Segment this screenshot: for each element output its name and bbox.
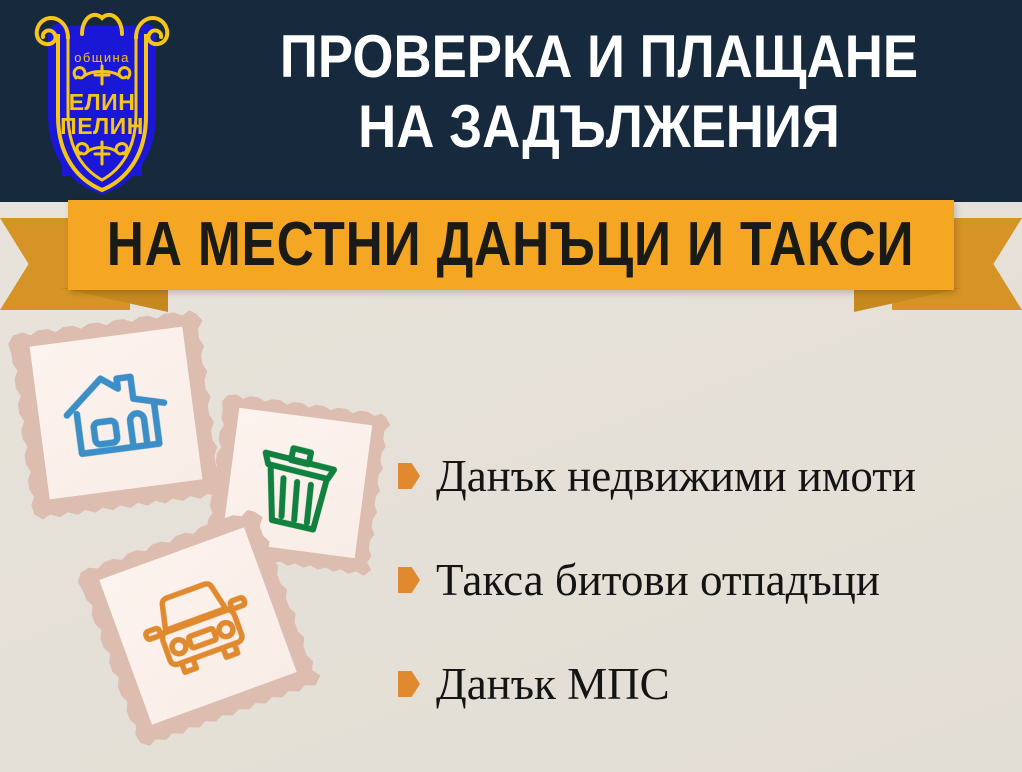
title-line-2: НА ЗАДЪЛЖЕНИЯ — [239, 92, 959, 162]
ribbon-label: НА МЕСТНИ ДАНЪЦИ И ТАКСИ — [107, 214, 915, 276]
logo-text-elin: ЕЛИН — [69, 89, 136, 115]
stamp-card-house — [6, 303, 226, 523]
subtitle-ribbon: НА МЕСТНИ ДАНЪЦИ И ТАКСИ — [0, 200, 1022, 315]
list-item[interactable]: Данък МПС — [398, 632, 1008, 736]
stamp-paper-house — [30, 327, 203, 500]
header-band: община ЕЛИН ПЕЛИН — [0, 0, 1022, 202]
list-item-label: Такса битови отпадъци — [436, 555, 880, 605]
bullet-arrow-icon — [398, 671, 420, 697]
municipality-logo: община ЕЛИН ПЕЛИН — [22, 4, 182, 194]
car-front-icon — [130, 565, 266, 688]
bullet-arrow-icon — [398, 567, 420, 593]
ribbon-banner: НА МЕСТНИ ДАНЪЦИ И ТАКСИ — [68, 200, 954, 290]
stamp-paper-car — [99, 527, 296, 724]
trash-bin-icon — [247, 430, 347, 537]
poster-root: община ЕЛИН ПЕЛИН — [0, 0, 1022, 772]
list-item[interactable]: Такса битови отпадъци — [398, 528, 1008, 632]
list-item[interactable]: Данък недвижими имоти — [398, 424, 1008, 528]
logo-text-obshtina: община — [74, 50, 129, 65]
logo-text-pelin: ПЕЛИН — [60, 113, 144, 139]
house-icon — [55, 358, 177, 468]
list-item-label: Данък МПС — [436, 659, 670, 709]
coat-of-arms-shield-icon: община ЕЛИН ПЕЛИН — [22, 4, 182, 194]
poster-title: ПРОВЕРКА И ПЛАЩАНЕ НА ЗАДЪЛЖЕНИЯ — [190, 22, 1008, 162]
bullet-arrow-icon — [398, 463, 420, 489]
tax-type-list: Данък недвижими имоти Такса битови отпад… — [398, 424, 1008, 736]
title-line-1: ПРОВЕРКА И ПЛАЩАНЕ — [239, 22, 959, 92]
list-item-label: Данък недвижими имоти — [436, 451, 916, 501]
